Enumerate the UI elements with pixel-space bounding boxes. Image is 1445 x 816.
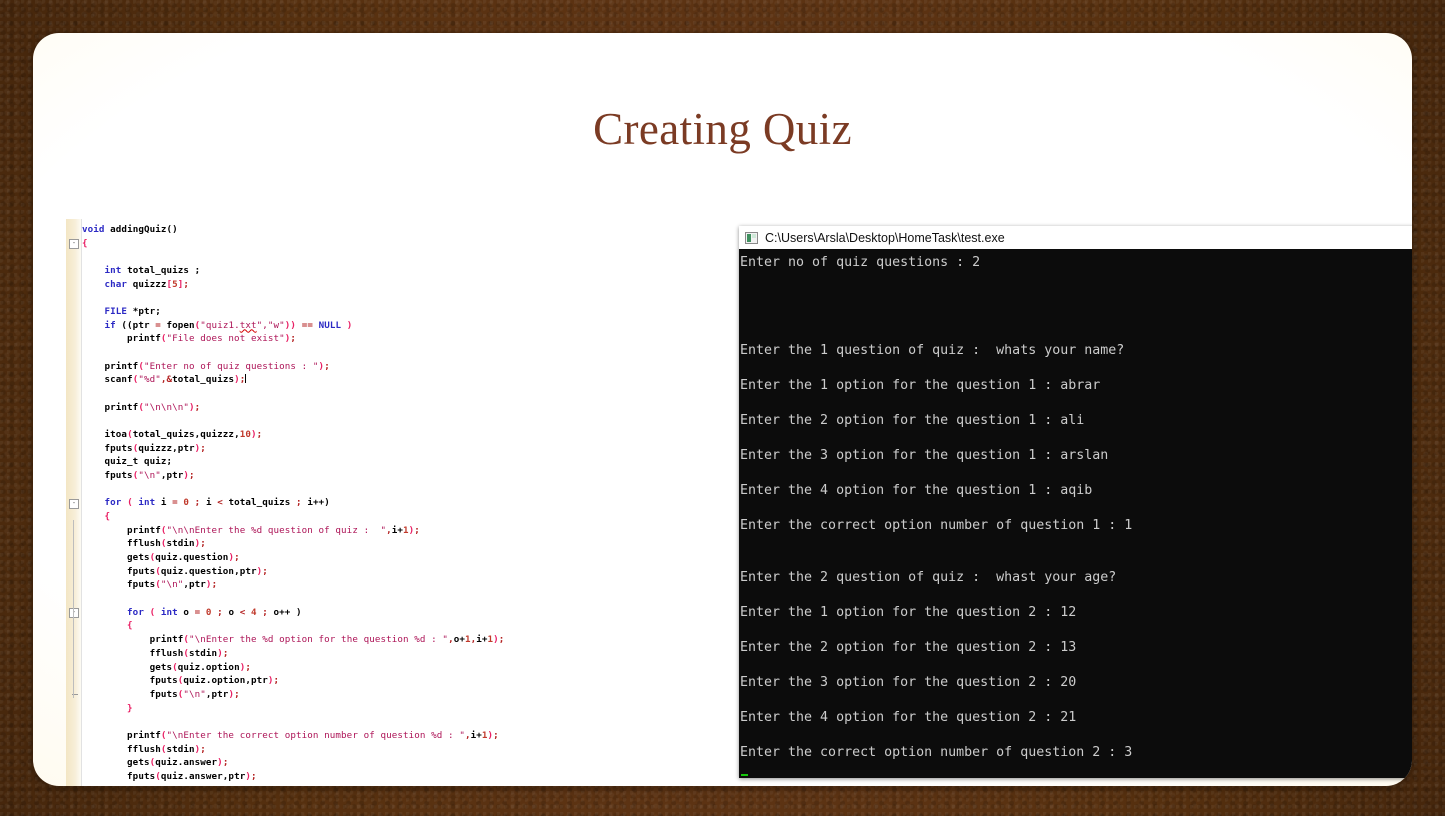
console-line: Enter the 1 option for the question 1 : …: [740, 377, 1412, 395]
code-line: printf("\nEnter the %d option for the qu…: [82, 633, 841, 647]
console-line: Enter the 4 option for the question 2 : …: [740, 709, 1412, 727]
console-line: Enter the 1 question of quiz : whats you…: [740, 342, 1412, 360]
console-output: Enter no of quiz questions : 2 Enter the…: [739, 249, 1412, 778]
code-line: fputs("\n",ptr);: [82, 784, 841, 786]
console-line: Enter the correct option number of quest…: [740, 744, 1412, 762]
code-line: fputs("\n",ptr);: [82, 688, 841, 702]
console-cursor: [741, 774, 748, 776]
text-caret: [245, 374, 246, 383]
code-line: itoa(total_quizs,quizzz,10);: [82, 428, 841, 442]
code-line: printf("\n\n\n");: [82, 401, 841, 415]
code-line: quiz_t quiz;: [82, 455, 841, 469]
code-fold-marker[interactable]: -: [69, 239, 79, 249]
console-titlebar[interactable]: C:\Users\Arsla\Desktop\HomeTask\test.exe: [739, 226, 1412, 249]
console-line: Enter no of quiz questions : 2: [740, 254, 1412, 272]
code-line: fflush(stdin);: [82, 537, 841, 551]
console-line: Enter the 2 question of quiz : whast you…: [740, 569, 1412, 587]
page-title: Creating Quiz: [33, 103, 1412, 155]
console-line: Enter the correct option number of quest…: [740, 517, 1412, 535]
code-line: [82, 250, 841, 264]
code-line: [82, 387, 841, 401]
console-line: [740, 307, 1412, 325]
code-line: [82, 291, 841, 305]
code-line: {: [82, 237, 841, 251]
code-line: char quizzz[5];: [82, 278, 841, 292]
console-line: [740, 727, 1412, 745]
console-line: Enter the 1 option for the question 2 : …: [740, 604, 1412, 622]
presentation-slide: Creating Quiz ---- void addingQuiz(){ in…: [33, 33, 1412, 786]
code-line: {: [82, 619, 841, 633]
code-fold-gutter: ----: [66, 219, 82, 786]
console-line: [740, 324, 1412, 342]
code-line: fflush(stdin);: [82, 743, 841, 757]
code-fold-line: [73, 520, 74, 698]
console-line: [740, 429, 1412, 447]
console-line: [740, 289, 1412, 307]
console-line: [740, 499, 1412, 517]
code-line: FILE *ptr;: [82, 305, 841, 319]
code-line: fputs(quiz.answer,ptr);: [82, 770, 841, 784]
code-line: printf("\n\nEnter the %d question of qui…: [82, 524, 841, 538]
code-line: gets(quiz.option);: [82, 661, 841, 675]
console-line: [740, 692, 1412, 710]
code-line: }: [82, 702, 841, 716]
code-line: fputs("\n",ptr);: [82, 469, 841, 483]
code-line: [82, 414, 841, 428]
code-line: fputs(quiz.option,ptr);: [82, 674, 841, 688]
code-line: [82, 715, 841, 729]
console-window[interactable]: C:\Users\Arsla\Desktop\HomeTask\test.exe…: [739, 226, 1412, 778]
console-line: Enter the 3 option for the question 2 : …: [740, 674, 1412, 692]
code-fold-marker[interactable]: -: [69, 608, 79, 618]
console-line: [740, 359, 1412, 377]
code-line: scanf("%d",&total_quizs);: [82, 373, 841, 387]
code-line: [82, 483, 841, 497]
code-line: printf("\nEnter the correct option numbe…: [82, 729, 841, 743]
console-line: [740, 272, 1412, 290]
console-title-text: C:\Users\Arsla\Desktop\HomeTask\test.exe: [765, 231, 1005, 245]
code-line: printf("File does not exist");: [82, 332, 841, 346]
console-line: Enter the 3 option for the question 1 : …: [740, 447, 1412, 465]
console-line: [740, 394, 1412, 412]
console-line: [740, 464, 1412, 482]
code-line: [82, 346, 841, 360]
console-line: [740, 622, 1412, 640]
console-line: [740, 657, 1412, 675]
code-line: if ((ptr = fopen("quiz1.txt","w")) == NU…: [82, 319, 841, 333]
code-line: fputs(quizzz,ptr);: [82, 442, 841, 456]
code-line: {: [82, 510, 841, 524]
console-app-icon: [745, 232, 758, 244]
code-line: int total_quizs ;: [82, 264, 841, 278]
code-line: gets(quiz.question);: [82, 551, 841, 565]
code-editor-screenshot: ---- void addingQuiz(){ int total_quizs …: [66, 219, 841, 786]
console-line: [740, 534, 1412, 552]
code-line: fputs(quiz.question,ptr);: [82, 565, 841, 579]
code-line: for ( int i = 0 ; i < total_quizs ; i++): [82, 496, 841, 510]
code-line: void addingQuiz(): [82, 223, 841, 237]
console-line: [740, 552, 1412, 570]
code-line: fflush(stdin);: [82, 647, 841, 661]
code-line: printf("Enter no of quiz questions : ");: [82, 360, 841, 374]
console-line: Enter the 4 option for the question 1 : …: [740, 482, 1412, 500]
console-line: Enter the 2 option for the question 1 : …: [740, 412, 1412, 430]
console-line: [740, 587, 1412, 605]
code-fold-marker[interactable]: -: [69, 499, 79, 509]
code-line: [82, 592, 841, 606]
console-line: Enter the 2 option for the question 2 : …: [740, 639, 1412, 657]
code-line: gets(quiz.answer);: [82, 756, 841, 770]
code-line: fputs("\n",ptr);: [82, 578, 841, 592]
code-line: for ( int o = 0 ; o < 4 ; o++ ): [82, 606, 841, 620]
code-listing: void addingQuiz(){ int total_quizs ; cha…: [82, 223, 841, 786]
